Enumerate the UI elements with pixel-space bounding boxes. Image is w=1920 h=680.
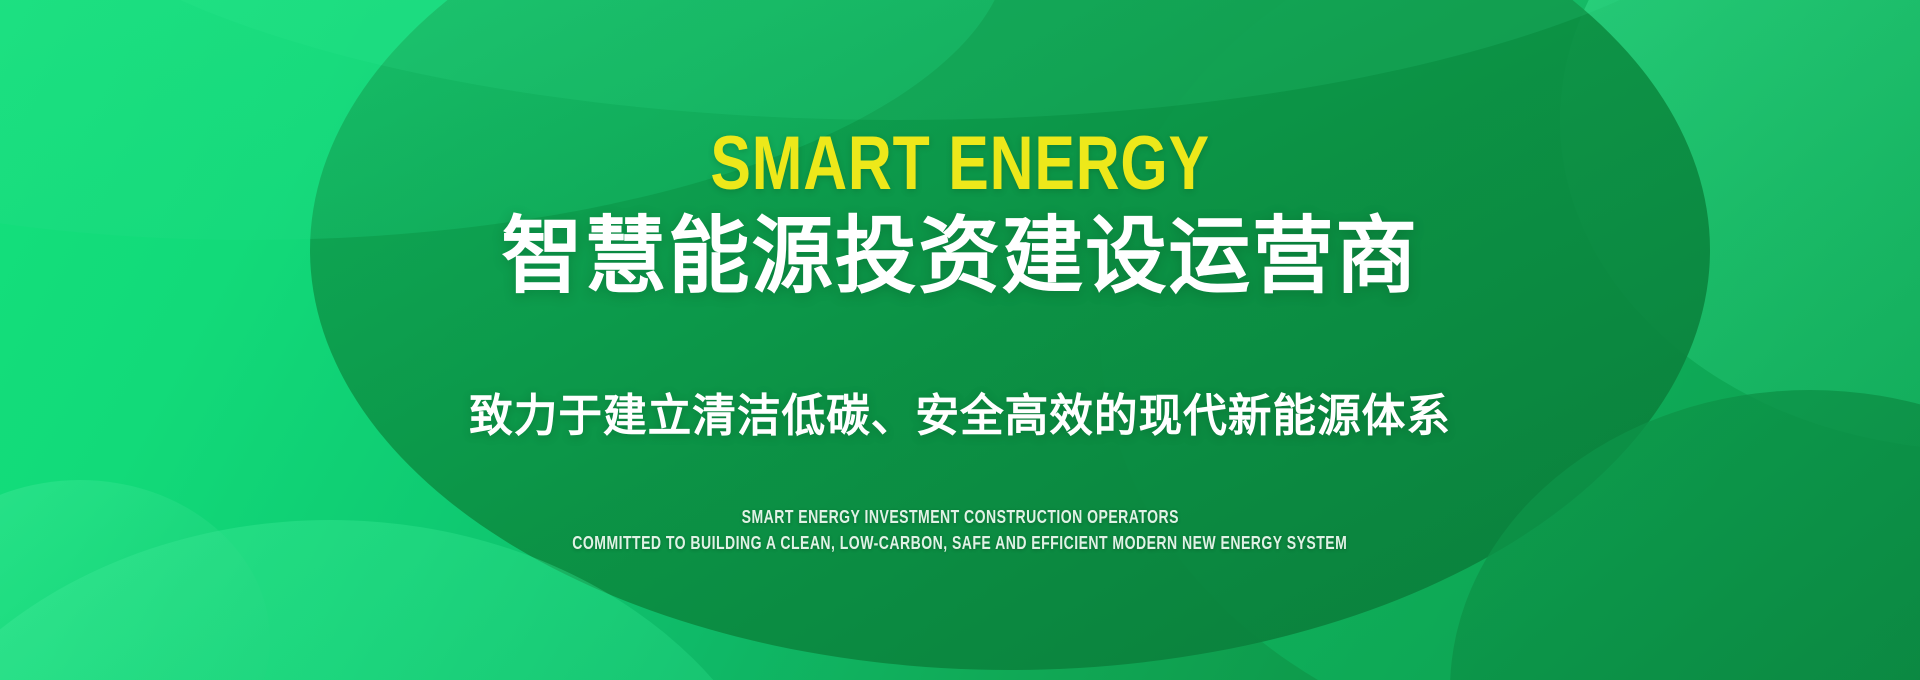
banner-headline: 智慧能源投资建设运营商 bbox=[501, 212, 1419, 300]
banner-english-line-2: COMMITTED TO BUILDING A CLEAN, LOW-CARBO… bbox=[572, 533, 1347, 555]
banner-subheadline: 致力于建立清洁低碳、安全高效的现代新能源体系 bbox=[469, 390, 1451, 442]
banner-kicker: SMART ENERGY bbox=[710, 126, 1209, 202]
smart-energy-banner: SMART ENERGY 智慧能源投资建设运营商 致力于建立清洁低碳、安全高效的… bbox=[0, 0, 1920, 680]
banner-content: SMART ENERGY 智慧能源投资建设运营商 致力于建立清洁低碳、安全高效的… bbox=[0, 0, 1920, 680]
banner-english-block: SMART ENERGY INVESTMENT CONSTRUCTION OPE… bbox=[463, 507, 1457, 555]
banner-english-line-1: SMART ENERGY INVESTMENT CONSTRUCTION OPE… bbox=[741, 507, 1178, 529]
